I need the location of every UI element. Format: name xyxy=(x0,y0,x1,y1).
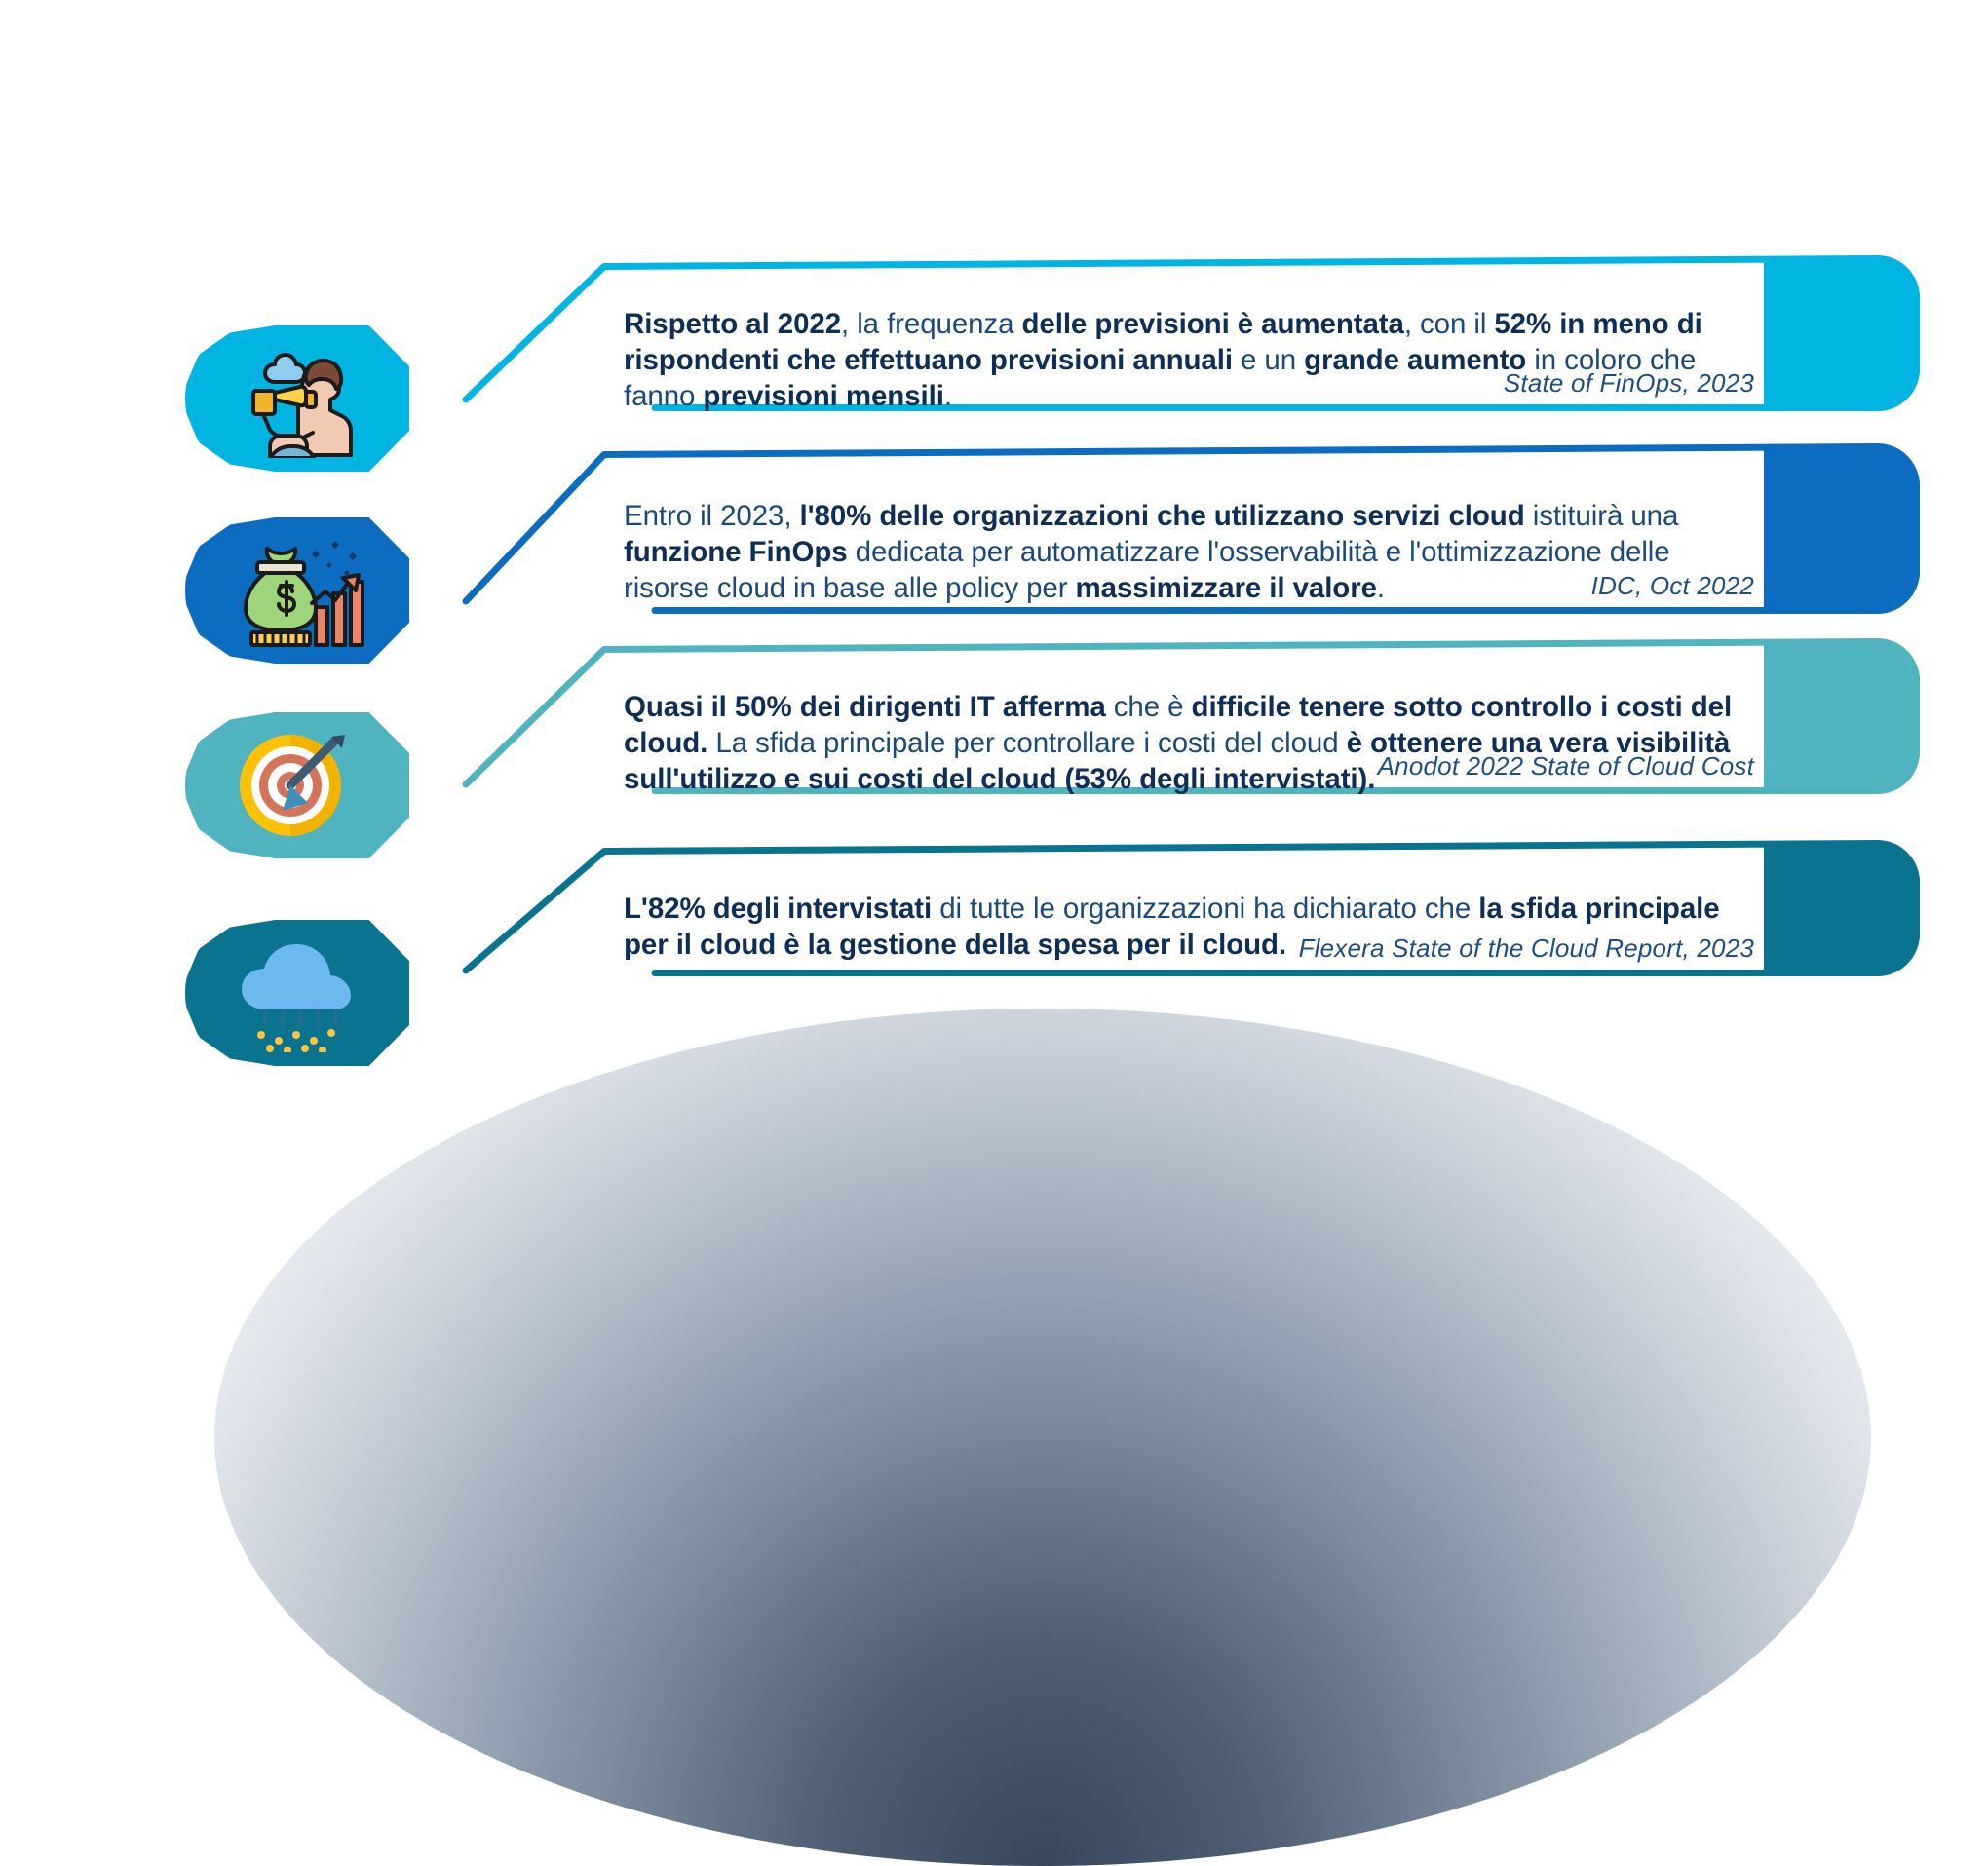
source-attribution-anodot: Anodot 2022 State of Cloud Cost xyxy=(624,751,1754,781)
person-telescope-cloud-icon-wrap xyxy=(222,339,368,458)
icon-badge-forecast xyxy=(185,325,409,472)
infographic-board: Rispetto al 2022, la frequenza delle pre… xyxy=(0,0,1988,1169)
source-attribution-flexera: Flexera State of the Cloud Report, 2023 xyxy=(624,933,1754,964)
target-dart-icon-wrap xyxy=(222,726,368,845)
rain-cloud-icon xyxy=(222,933,368,1052)
source-attribution-idc: IDC, Oct 2022 xyxy=(624,571,1754,601)
icon-badge-idc xyxy=(185,517,409,664)
callout-idc: Entro il 2023, l'80% delle organizzazion… xyxy=(458,443,1920,653)
rain-cloud-icon-wrap xyxy=(222,933,368,1052)
person-telescope-cloud-icon xyxy=(222,339,368,458)
icon-badge-anodot xyxy=(185,712,409,858)
callout-flexera: L'82% degli intervistati di tutte le org… xyxy=(458,840,1920,1015)
money-bag-growth-chart-icon xyxy=(222,531,368,650)
icon-badge-flexera xyxy=(185,920,409,1066)
callout-forecast: Rispetto al 2022, la frequenza delle pre… xyxy=(458,255,1920,450)
money-bag-growth-chart-icon-wrap xyxy=(222,531,368,650)
source-attribution-forecast: State of FinOps, 2023 xyxy=(624,368,1754,399)
target-dart-icon xyxy=(222,726,368,845)
callout-anodot: Quasi il 50% dei dirigenti IT afferma ch… xyxy=(458,638,1920,833)
